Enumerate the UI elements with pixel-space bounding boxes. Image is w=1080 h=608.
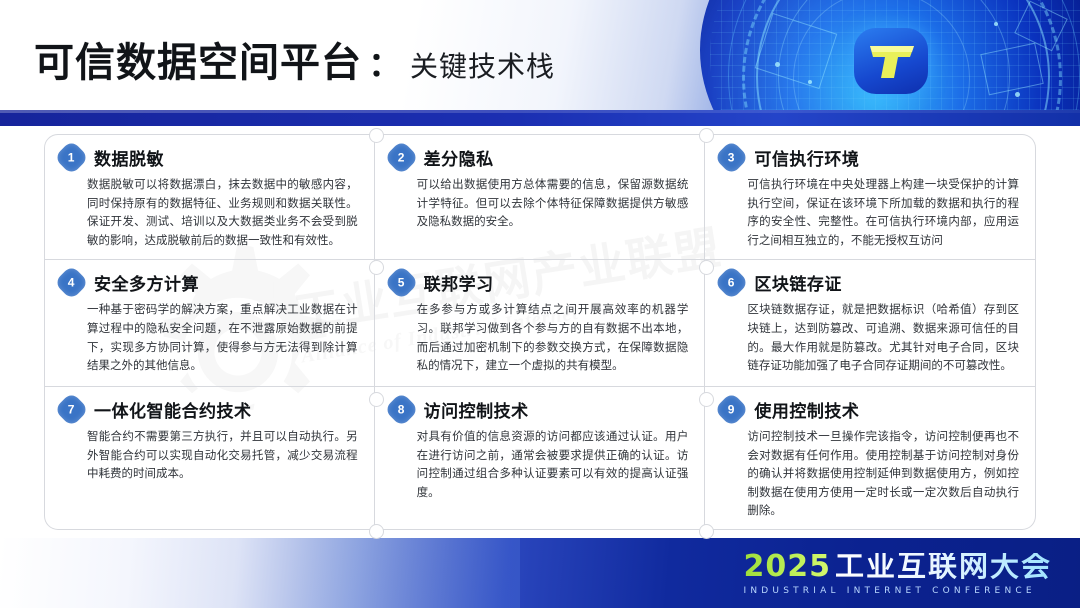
card-connector-bottom-1 bbox=[369, 524, 384, 539]
tech-card-6-title: 区块链存证 bbox=[754, 270, 842, 295]
tech-card-3-head: 3 可信执行环境 bbox=[719, 145, 1021, 170]
tech-card-4-number: 4 bbox=[68, 277, 75, 289]
header-dot-3 bbox=[994, 22, 998, 26]
slide-body: 工业互联网产业联盟 Alliance of Industrial Interne… bbox=[0, 126, 1080, 538]
tech-card-1-number: 1 bbox=[68, 152, 75, 164]
tech-card-2-number: 2 bbox=[398, 152, 405, 164]
tech-card-4-body: 一种基于密码学的解决方案，重点解决工业数据在计算过程中的隐私安全问题，在不泄露原… bbox=[59, 301, 360, 376]
tech-card-2-title: 差分隐私 bbox=[424, 145, 494, 170]
tech-card-1-badge: 1 bbox=[54, 140, 89, 175]
tech-card-7-head: 7 一体化智能合约技术 bbox=[59, 397, 360, 422]
header-divider-highlight bbox=[0, 110, 1080, 113]
card-connector-bottom-2 bbox=[699, 524, 714, 539]
tech-card-9[interactable]: 9 使用控制技术 访问控制技术一旦操作完该指令，访问控制便再也不会对数据有任何作… bbox=[705, 387, 1036, 530]
tech-card-9-head: 9 使用控制技术 bbox=[719, 397, 1021, 422]
page-title-colon: ： bbox=[368, 37, 402, 86]
conference-logo-primary: 2025 工业互联网大会 bbox=[743, 552, 1052, 582]
tech-card-7-number: 7 bbox=[68, 403, 75, 415]
tech-stack-card-grid: 1 数据脱敏 数据脱敏可以将数据漂白，抹去数据中的敏感内容，同时保持原有的数据特… bbox=[44, 134, 1036, 530]
slide-footer: 2025 工业互联网大会 INDUSTRIAL INTERNET CONFERE… bbox=[0, 538, 1080, 608]
tech-card-5-title: 联邦学习 bbox=[424, 270, 494, 295]
header-dot-4 bbox=[1015, 92, 1020, 97]
tech-card-3[interactable]: 3 可信执行环境 可信执行环境在中央处理器上构建一块受保护的计算执行空间，保证在… bbox=[705, 134, 1036, 260]
tech-card-2-badge: 2 bbox=[383, 140, 418, 175]
slide-header: 可信数据空间平台： 关键技术栈 bbox=[0, 0, 1080, 118]
tech-card-1-title: 数据脱敏 bbox=[94, 145, 164, 170]
tech-card-8[interactable]: 8 访问控制技术 对具有价值的信息资源的访问都应该通过认证。用户在进行访问之前，… bbox=[375, 387, 706, 530]
tech-card-2-head: 2 差分隐私 bbox=[389, 145, 691, 170]
conference-name-cn: 工业互联网大会 bbox=[835, 553, 1052, 582]
header-dot-2 bbox=[808, 80, 812, 84]
conference-year: 2025 bbox=[743, 552, 831, 582]
tech-card-3-title: 可信执行环境 bbox=[754, 145, 859, 170]
tech-card-9-number: 9 bbox=[728, 403, 735, 415]
slide-root: 可信数据空间平台： 关键技术栈 工业互联网产业联盟 Alliance of In… bbox=[0, 0, 1080, 608]
tech-card-8-title: 访问控制技术 bbox=[424, 397, 529, 422]
tech-card-2[interactable]: 2 差分隐私 可以给出数据使用方总体需要的信息，保留源数据统计学特征。但可以去除… bbox=[375, 134, 706, 260]
tech-card-9-body: 访问控制技术一旦操作完该指令，访问控制便再也不会对数据有任何作用。使用控制基于访… bbox=[719, 428, 1021, 521]
tech-card-7[interactable]: 7 一体化智能合约技术 智能合约不需要第三方执行，并且可以自动执行。另外智能合约… bbox=[44, 387, 375, 530]
tech-card-3-body: 可信执行环境在中央处理器上构建一块受保护的计算执行空间，保证在该环境下所加载的数… bbox=[719, 176, 1021, 251]
tech-card-3-number: 3 bbox=[728, 152, 735, 164]
industrial-internet-t-logo-icon bbox=[864, 40, 920, 82]
conference-logo: 2025 工业互联网大会 INDUSTRIAL INTERNET CONFERE… bbox=[743, 552, 1052, 596]
tech-card-4[interactable]: 4 安全多方计算 一种基于密码学的解决方案，重点解决工业数据在计算过程中的隐私安… bbox=[44, 260, 375, 386]
tech-card-8-body: 对具有价值的信息资源的访问都应该通过认证。用户在进行访问之前，通常会被要求提供正… bbox=[389, 428, 691, 503]
tech-card-1[interactable]: 1 数据脱敏 数据脱敏可以将数据漂白，抹去数据中的敏感内容，同时保持原有的数据特… bbox=[44, 134, 375, 260]
conference-name-en: INDUSTRIAL INTERNET CONFERENCE bbox=[743, 586, 1052, 596]
tech-card-8-head: 8 访问控制技术 bbox=[389, 397, 691, 422]
tech-card-6-body: 区块链数据存证，就是把数据标识（哈希值）存到区块链上，达到防篡改、可追溯、数据来… bbox=[719, 301, 1021, 376]
card-connector-mid-1 bbox=[369, 260, 384, 275]
tech-card-6-head: 6 区块链存证 bbox=[719, 270, 1021, 295]
tech-card-3-badge: 3 bbox=[714, 140, 749, 175]
card-connector-top-1 bbox=[369, 128, 384, 143]
footer-decoration bbox=[0, 538, 520, 608]
tech-card-5-body: 在多参与方或多计算结点之间开展高效率的机器学习。联邦学习做到各个参与方的自有数据… bbox=[389, 301, 691, 376]
card-connector-top-2 bbox=[699, 128, 714, 143]
card-connector-mid-4 bbox=[699, 392, 714, 407]
tech-card-5[interactable]: 5 联邦学习 在多参与方或多计算结点之间开展高效率的机器学习。联邦学习做到各个参… bbox=[375, 260, 706, 386]
tech-card-6[interactable]: 6 区块链存证 区块链数据存证，就是把数据标识（哈希值）存到区块链上，达到防篡改… bbox=[705, 260, 1036, 386]
page-title-main: 可信数据空间平台 bbox=[34, 30, 362, 88]
tech-card-5-badge: 5 bbox=[383, 265, 418, 300]
tech-card-6-number: 6 bbox=[728, 277, 735, 289]
tech-card-1-body: 数据脱敏可以将数据漂白，抹去数据中的敏感内容，同时保持原有的数据特征、业务规则和… bbox=[59, 176, 360, 251]
card-connector-mid-2 bbox=[699, 260, 714, 275]
tech-card-8-badge: 8 bbox=[383, 392, 418, 427]
tech-card-2-body: 可以给出数据使用方总体需要的信息，保留源数据统计学特征。但可以去除个体特征保障数… bbox=[389, 176, 691, 232]
card-connector-mid-3 bbox=[369, 392, 384, 407]
tech-card-8-number: 8 bbox=[398, 403, 405, 415]
page-title: 可信数据空间平台： 关键技术栈 bbox=[34, 30, 555, 88]
tech-card-5-head: 5 联邦学习 bbox=[389, 270, 691, 295]
tech-card-5-number: 5 bbox=[398, 277, 405, 289]
tech-card-6-badge: 6 bbox=[714, 265, 749, 300]
tech-card-4-title: 安全多方计算 bbox=[94, 270, 199, 295]
header-dot-1 bbox=[775, 62, 780, 67]
tech-card-7-title: 一体化智能合约技术 bbox=[94, 397, 252, 422]
tech-card-7-body: 智能合约不需要第三方执行，并且可以自动执行。另外智能合约可以实现自动化交易托管，… bbox=[59, 428, 360, 484]
tech-card-1-head: 1 数据脱敏 bbox=[59, 145, 360, 170]
tech-card-9-badge: 9 bbox=[714, 392, 749, 427]
page-title-sub: 关键技术栈 bbox=[410, 45, 555, 85]
tech-card-7-badge: 7 bbox=[54, 392, 89, 427]
tech-card-4-head: 4 安全多方计算 bbox=[59, 270, 360, 295]
tech-card-9-title: 使用控制技术 bbox=[754, 397, 859, 422]
tech-card-4-badge: 4 bbox=[54, 265, 89, 300]
